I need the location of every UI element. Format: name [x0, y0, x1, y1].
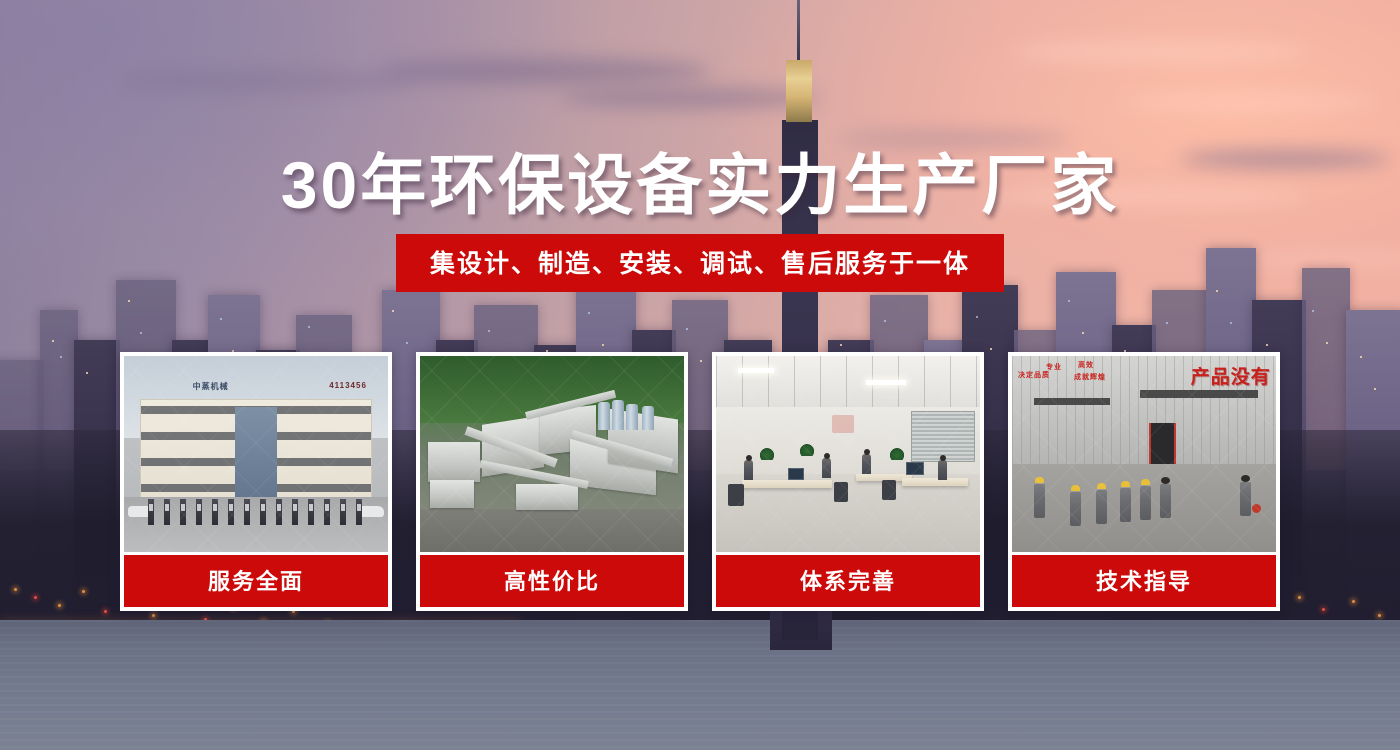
feature-card-list: 中蒸机械 4113456 服务全面 [120, 352, 1280, 611]
building-sign-text: 中蒸机械 [193, 381, 229, 392]
card-photo-headquarters: 中蒸机械 4113456 [124, 356, 388, 552]
tower-spire [797, 0, 800, 62]
card-caption: 高性价比 [420, 555, 684, 607]
feature-card[interactable]: 中蒸机械 4113456 服务全面 [120, 352, 392, 611]
card-photo-office-interior [716, 356, 980, 552]
card-photo-workers: 产品没有 决定品质 专业 高效 成就辉煌 [1012, 356, 1276, 552]
card-caption: 服务全面 [124, 555, 388, 607]
tower-crown [786, 60, 812, 122]
subtitle-text: 集设计、制造、安装、调试、售后服务于一体 [396, 234, 1004, 292]
feature-card[interactable]: 体系完善 [712, 352, 984, 611]
factory-slogan: 产品没有 [1191, 362, 1271, 389]
feature-card[interactable]: 产品没有 决定品质 专业 高效 成就辉煌 技术指导 [1008, 352, 1280, 611]
building-phone-text: 4113456 [329, 381, 367, 390]
card-photo-industrial-plant [420, 356, 684, 552]
water-ripples [0, 620, 1400, 750]
promotional-banner: 30年环保设备实力生产厂家 集设计、制造、安装、调试、售后服务于一体 中蒸机械 … [0, 0, 1400, 750]
feature-card[interactable]: 高性价比 [416, 352, 688, 611]
subtitle-bar: 集设计、制造、安装、调试、售后服务于一体 [0, 234, 1400, 292]
factory-slogan-small: 高效 [1078, 360, 1094, 370]
page-title: 30年环保设备实力生产厂家 [0, 132, 1400, 228]
card-caption: 体系完善 [716, 555, 980, 607]
factory-slogan-small: 专业 [1046, 362, 1062, 372]
factory-slogan-small: 成就辉煌 [1074, 372, 1106, 382]
card-caption: 技术指导 [1012, 555, 1276, 607]
river [0, 620, 1400, 750]
